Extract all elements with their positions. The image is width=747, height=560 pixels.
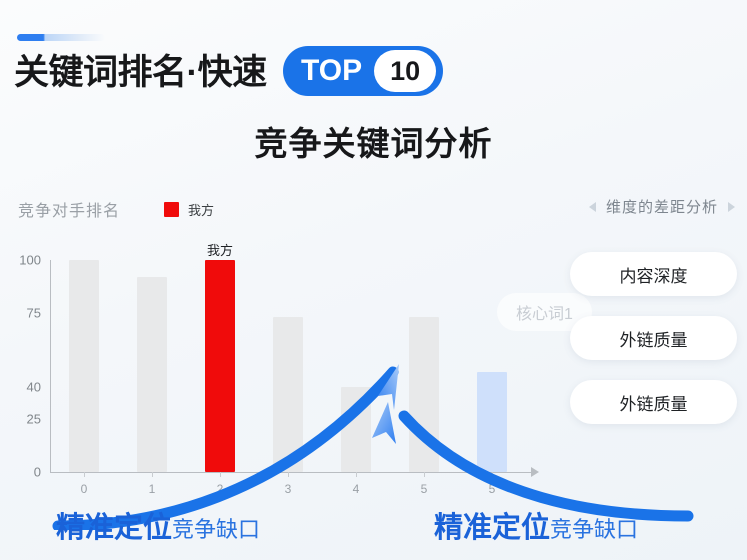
gap-card[interactable]: 外链质量	[570, 380, 737, 424]
gap-panel-title: 维度的差距分析	[606, 196, 718, 217]
chart-header: 竞争对手排名 我方	[18, 197, 214, 221]
x-axis-tick: 0	[81, 482, 88, 496]
page-title-text: 关键词排名·快速	[14, 55, 267, 90]
triangle-left-icon[interactable]	[589, 202, 596, 212]
chart-title: 竞争对手排名	[18, 197, 120, 221]
x-axis-tick-mark	[356, 472, 357, 477]
bar-chart: 1007540250我方 0123455	[8, 240, 548, 475]
top-badge: TOP 10	[283, 46, 443, 96]
x-axis-tick: 5	[421, 482, 428, 496]
x-axis-tick-mark	[220, 472, 221, 477]
caption-strong: 精准定位	[56, 504, 172, 546]
x-axis-tick: 3	[285, 482, 292, 496]
bar	[341, 387, 371, 472]
y-axis-tick: 75	[27, 306, 41, 321]
y-axis-tick: 40	[27, 380, 41, 395]
y-axis-tick: 0	[34, 465, 41, 480]
gap-card-list: 内容深度 外链质量 外链质量	[570, 252, 737, 424]
top-badge-circle: 10	[374, 50, 436, 92]
gap-card[interactable]: 外链质量	[570, 316, 737, 360]
gap-card[interactable]: 内容深度	[570, 252, 737, 296]
triangle-right-icon[interactable]	[728, 202, 735, 212]
bar	[273, 317, 303, 472]
top-badge-number: 10	[390, 58, 420, 85]
x-axis-tick: 4	[353, 482, 360, 496]
legend-label: 我方	[188, 200, 214, 219]
caption-left: 精准定位 竞争缺口	[56, 504, 260, 546]
bar-highlight-label: 我方	[207, 240, 233, 259]
x-axis-tick-mark	[288, 472, 289, 477]
caption-weak: 竞争缺口	[550, 512, 638, 544]
bar-highlight	[205, 260, 235, 472]
page-title: 关键词排名·快速	[14, 45, 267, 99]
y-axis-tick: 100	[19, 253, 41, 268]
gap-panel-header: 维度的差距分析	[589, 196, 735, 217]
caption-strong: 精准定位	[434, 504, 550, 546]
bar	[137, 277, 167, 472]
progress-bar-icon	[17, 34, 105, 41]
x-axis-tick-mark	[492, 472, 493, 477]
x-axis-arrow-icon	[531, 467, 539, 477]
x-axis-tick-mark	[424, 472, 425, 477]
top-badge-label: TOP	[301, 56, 362, 86]
x-axis-tick-mark	[84, 472, 85, 477]
plot-region: 1007540250我方	[50, 260, 520, 472]
caption-weak: 竞争缺口	[172, 512, 260, 544]
bar	[477, 372, 507, 472]
caption-right: 精准定位 竞争缺口	[434, 504, 638, 546]
page-subtitle: 竞争关键词分析	[0, 117, 747, 165]
legend-swatch-icon	[164, 202, 179, 217]
x-axis-tick: 2	[217, 482, 224, 496]
bar	[409, 317, 439, 472]
y-axis-tick: 25	[27, 412, 41, 427]
x-axis	[50, 472, 535, 473]
x-axis-tick-mark	[152, 472, 153, 477]
chart-legend: 我方	[164, 200, 214, 219]
bar	[69, 260, 99, 472]
x-axis-tick: 5	[489, 482, 496, 496]
x-axis-tick: 1	[149, 482, 156, 496]
